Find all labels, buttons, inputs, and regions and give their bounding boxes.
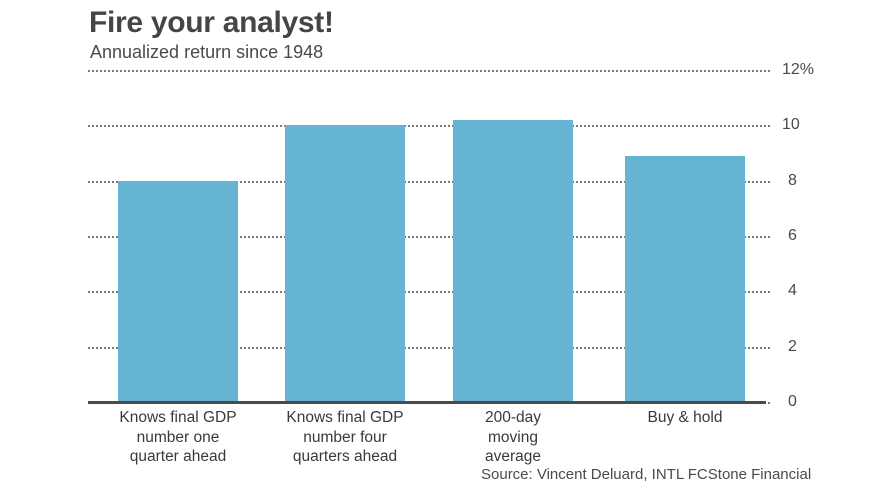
bar-4	[625, 156, 745, 402]
bar-1	[118, 181, 238, 402]
bar-3	[453, 120, 573, 402]
x-axis-category-label-2: Knows final GDP number four quarters ahe…	[257, 408, 433, 467]
bar-2	[285, 125, 405, 402]
gridline-12	[88, 70, 770, 72]
chart-title: Fire your analyst!	[89, 7, 334, 39]
x-axis-category-label-4: Buy & hold	[597, 408, 773, 428]
y-axis-tick-label: 4	[788, 282, 828, 300]
y-axis-tick-label: 12%	[782, 61, 822, 79]
y-axis-tick-label: 2	[788, 338, 828, 356]
chart-subtitle: Annualized return since 1948	[90, 43, 323, 63]
plot-area	[88, 70, 770, 402]
x-axis-category-label-3: 200-day moving average	[438, 408, 588, 467]
x-axis-baseline	[88, 401, 766, 404]
gridline-10	[88, 125, 770, 127]
y-axis-tick-label: 10	[782, 116, 822, 134]
source-note: Source: Vincent Deluard, INTL FCStone Fi…	[481, 466, 811, 483]
y-axis-tick-label: 8	[788, 172, 828, 190]
chart-container: Fire your analyst! Annualized return sin…	[0, 0, 890, 501]
x-axis-category-label-1: Knows final GDP number one quarter ahead	[90, 408, 266, 467]
y-axis-tick-label: 0	[788, 393, 828, 411]
y-axis-tick-label: 6	[788, 227, 828, 245]
